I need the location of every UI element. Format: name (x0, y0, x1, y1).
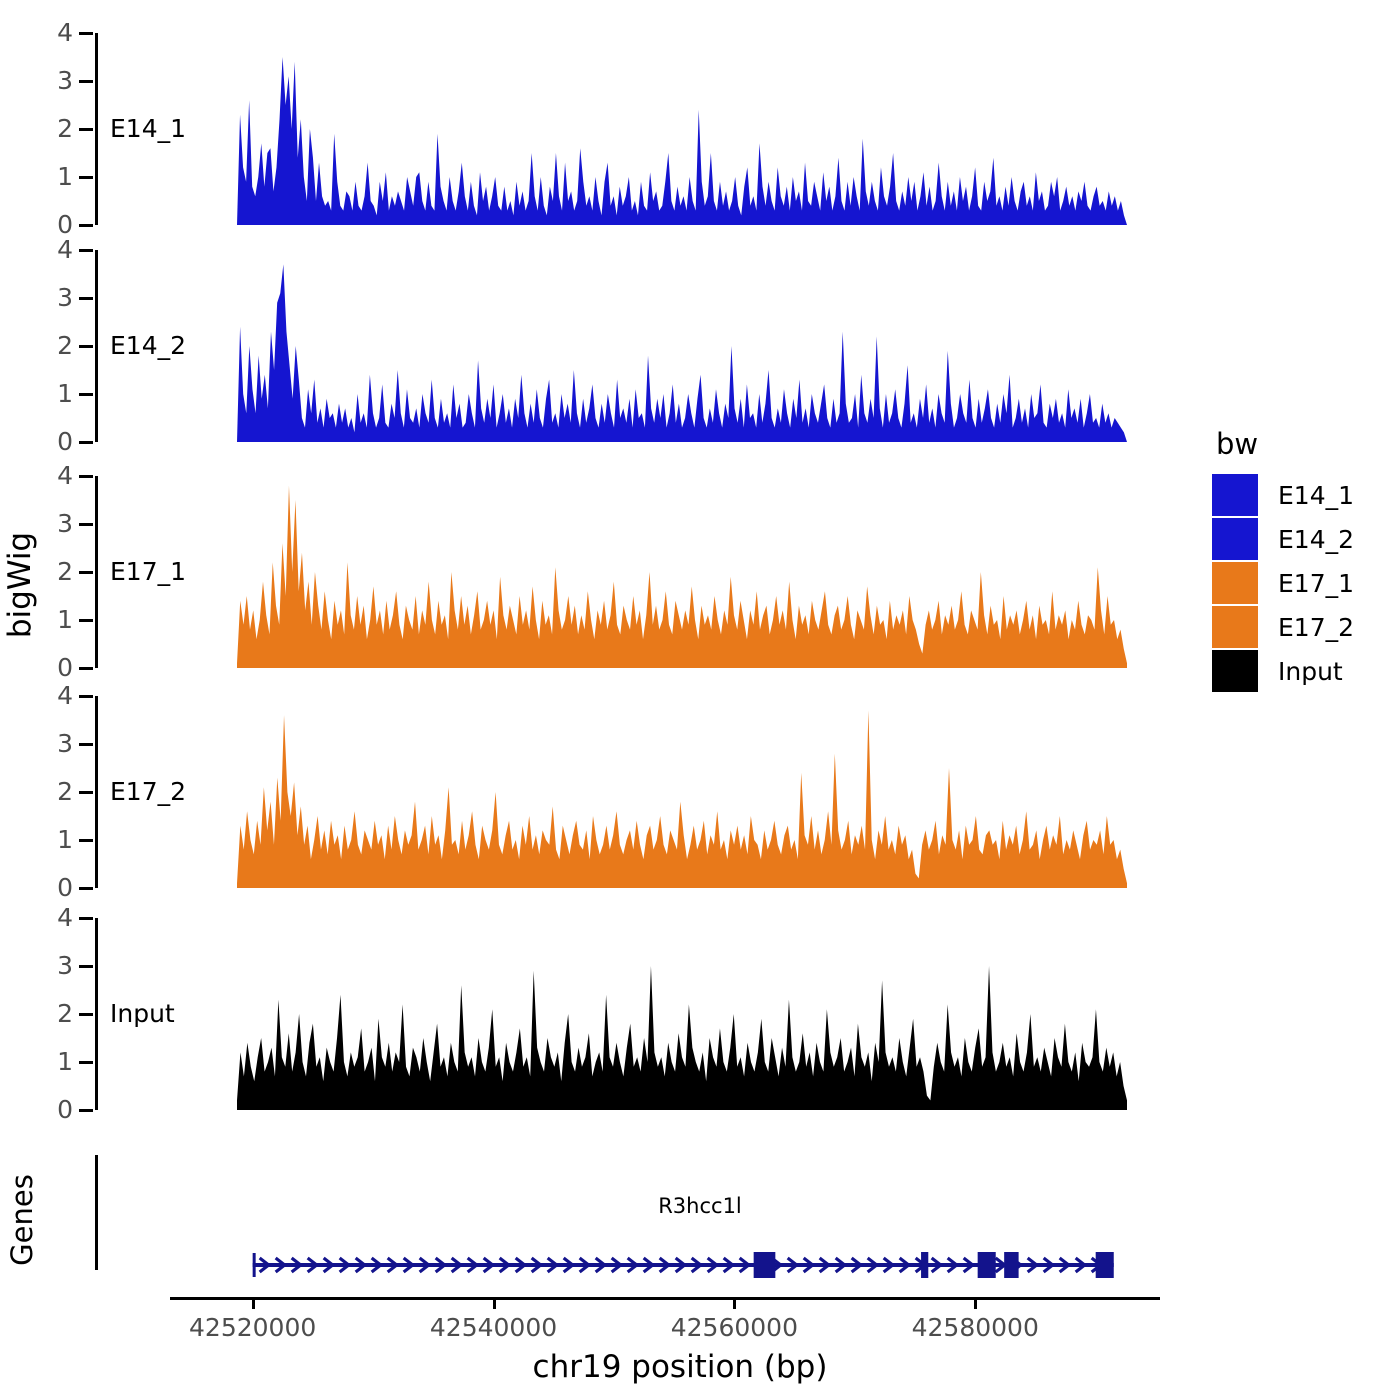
track-label-e17_2: E17_2 (110, 779, 186, 804)
y-tick-label: 0 (13, 875, 73, 900)
y-tick-label: 0 (13, 212, 73, 237)
y-tick (79, 32, 93, 35)
y-tick (79, 1109, 93, 1112)
x-tick (733, 1297, 736, 1309)
signal-area-e17_1 (237, 476, 1127, 668)
y-tick (79, 297, 93, 300)
y-axis-line (95, 918, 98, 1110)
y-tick-label: 4 (13, 905, 73, 930)
signal-area-e14_1 (237, 33, 1127, 225)
y-tick (79, 887, 93, 890)
x-axis-line (170, 1297, 1160, 1300)
x-tick (974, 1297, 977, 1309)
y-tick (79, 791, 93, 794)
y-tick-label: 4 (13, 463, 73, 488)
legend-item-e14_1[interactable]: E14_1 (1212, 473, 1392, 517)
legend-item-e17_2[interactable]: E17_2 (1212, 605, 1392, 649)
x-tick-label: 42560000 (634, 1315, 834, 1340)
y-tick-label: 2 (13, 559, 73, 584)
signal-area-e14_2 (237, 250, 1127, 442)
y-tick (79, 475, 93, 478)
y-tick-label: 1 (13, 607, 73, 632)
legend-title: bw (1216, 430, 1392, 459)
y-tick (79, 571, 93, 574)
y-tick-label: 0 (13, 1097, 73, 1122)
y-tick (79, 743, 93, 746)
track-label-e14_1: E14_1 (110, 116, 186, 141)
track-label-e17_1: E17_1 (110, 559, 186, 584)
legend-label-e14_2: E14_2 (1278, 527, 1354, 552)
legend-label-e17_1: E17_1 (1278, 571, 1354, 596)
y-tick (79, 80, 93, 83)
y-tick-label: 3 (13, 285, 73, 310)
gene-name-label: R3hcc1l (600, 1196, 800, 1217)
genome-browser-figure: bigWig Genes 01234E14_101234E14_201234E1… (0, 0, 1400, 1400)
legend-label-e17_2: E17_2 (1278, 615, 1354, 640)
y-tick (79, 965, 93, 968)
y-axis-line (95, 696, 98, 888)
legend-swatch-input (1212, 650, 1258, 692)
y-axis-line (95, 33, 98, 225)
y-tick-label: 4 (13, 20, 73, 45)
y-tick-label: 2 (13, 333, 73, 358)
legend-items: E14_1E14_2E17_1E17_2Input (1212, 473, 1392, 693)
x-axis-title: chr19 position (bp) (250, 1352, 1110, 1383)
y-tick (79, 667, 93, 670)
y-tick (79, 695, 93, 698)
legend-label-e14_1: E14_1 (1278, 483, 1354, 508)
y-tick-label: 2 (13, 1001, 73, 1026)
y-tick (79, 249, 93, 252)
y-tick (79, 917, 93, 920)
signal-area-input (237, 918, 1127, 1110)
legend-item-e17_1[interactable]: E17_1 (1212, 561, 1392, 605)
y-tick (79, 176, 93, 179)
y-axis-line (95, 250, 98, 442)
legend-swatch-e17_1 (1212, 562, 1258, 604)
track-label-e14_2: E14_2 (110, 333, 186, 358)
y-tick (79, 619, 93, 622)
y-tick-label: 4 (13, 237, 73, 262)
y-tick-label: 1 (13, 1049, 73, 1074)
y-tick (79, 523, 93, 526)
y-tick (79, 1061, 93, 1064)
y-tick-label: 3 (13, 953, 73, 978)
y-tick-label: 4 (13, 683, 73, 708)
y-tick (79, 128, 93, 131)
y-tick-label: 1 (13, 827, 73, 852)
legend-item-input[interactable]: Input (1212, 649, 1392, 693)
y-tick-label: 2 (13, 116, 73, 141)
y-axis-line (95, 476, 98, 668)
genes-axis-line (95, 1155, 98, 1270)
y-tick-label: 0 (13, 429, 73, 454)
legend-item-e14_2[interactable]: E14_2 (1212, 517, 1392, 561)
signal-area-e17_2 (237, 696, 1127, 888)
legend-swatch-e14_1 (1212, 474, 1258, 516)
y-tick (79, 839, 93, 842)
y-tick-label: 3 (13, 731, 73, 756)
y-tick (79, 1013, 93, 1016)
y-tick (79, 345, 93, 348)
y-tick-label: 0 (13, 655, 73, 680)
y-tick-label: 1 (13, 381, 73, 406)
x-tick-label: 42540000 (394, 1315, 594, 1340)
y-tick-label: 3 (13, 68, 73, 93)
y-tick (79, 441, 93, 444)
x-tick (252, 1297, 255, 1309)
x-tick-label: 42520000 (153, 1315, 353, 1340)
legend-swatch-e14_2 (1212, 518, 1258, 560)
x-tick-label: 42580000 (875, 1315, 1075, 1340)
track-label-input: Input (110, 1001, 175, 1026)
legend: bw E14_1E14_2E17_1E17_2Input (1212, 430, 1392, 693)
legend-label-input: Input (1278, 659, 1343, 684)
y-tick (79, 393, 93, 396)
y-tick-label: 2 (13, 779, 73, 804)
x-tick (493, 1297, 496, 1309)
y-tick-label: 3 (13, 511, 73, 536)
y-tick (79, 224, 93, 227)
y-tick-label: 1 (13, 164, 73, 189)
legend-swatch-e17_2 (1212, 606, 1258, 648)
gene-model[interactable] (237, 1245, 1127, 1285)
